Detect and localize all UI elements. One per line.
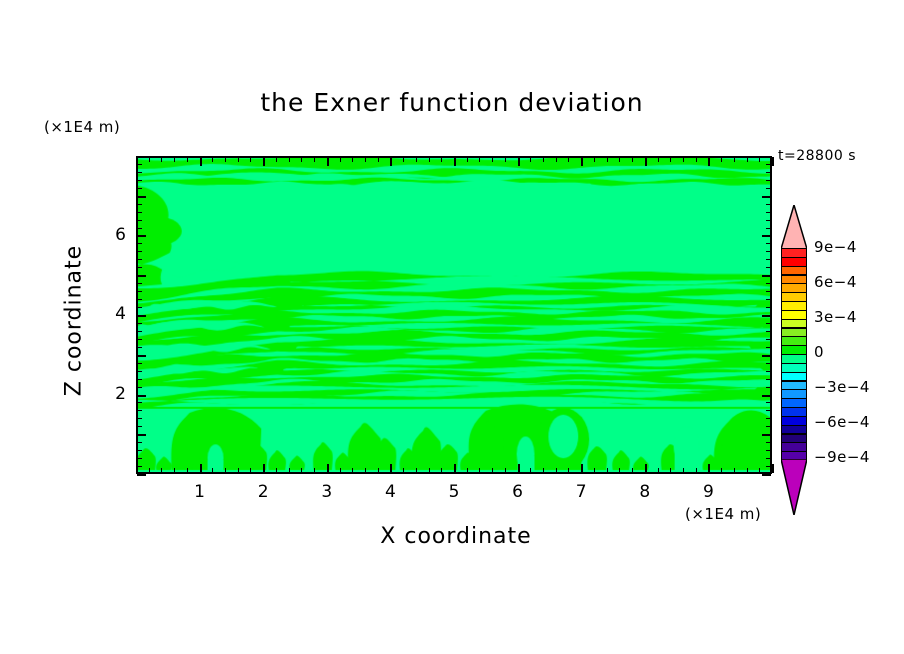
axis-tick <box>766 267 771 268</box>
axis-tick <box>137 418 142 419</box>
axis-tick <box>670 157 671 162</box>
axis-tick <box>289 468 290 473</box>
axis-tick <box>137 315 146 317</box>
axis-tick <box>314 468 315 473</box>
y-tick-label: 6 <box>96 225 126 245</box>
axis-tick <box>479 468 480 473</box>
axis-tick <box>429 468 430 473</box>
axis-tick <box>137 442 142 443</box>
axis-tick <box>747 157 748 162</box>
axis-tick <box>403 468 404 473</box>
axis-tick <box>200 464 202 473</box>
axis-tick <box>766 188 771 189</box>
axis-tick <box>670 468 671 473</box>
axis-tick <box>645 157 647 166</box>
axis-tick <box>454 157 456 166</box>
x-tick-label: 7 <box>561 482 601 502</box>
axis-tick <box>137 355 146 357</box>
axis-tick <box>187 468 188 473</box>
axis-tick <box>276 468 277 473</box>
axis-tick <box>238 157 239 162</box>
axis-tick <box>340 157 341 162</box>
axis-tick <box>766 402 771 403</box>
axis-tick <box>708 157 710 166</box>
axis-tick <box>137 235 146 237</box>
axis-tick <box>250 157 251 162</box>
axis-tick <box>149 157 150 162</box>
x-tick-label: 4 <box>370 482 410 502</box>
axis-tick <box>137 395 146 397</box>
axis-tick <box>766 228 771 229</box>
axis-tick <box>766 164 771 165</box>
axis-tick <box>734 468 735 473</box>
axis-tick <box>416 157 417 162</box>
axis-tick <box>137 299 142 300</box>
axis-tick <box>301 468 302 473</box>
x-tick-label: 6 <box>498 482 538 502</box>
axis-tick <box>137 283 142 284</box>
axis-tick <box>766 410 771 411</box>
axis-tick <box>766 307 771 308</box>
axis-tick <box>766 458 771 459</box>
axis-tick <box>581 157 583 166</box>
timestamp-annotation: t=28800 s <box>778 148 856 164</box>
axis-tick <box>137 204 142 205</box>
axis-tick <box>762 196 771 198</box>
axis-tick <box>441 468 442 473</box>
colorbar-bottom-arrow <box>781 459 807 515</box>
axis-tick <box>137 220 142 221</box>
axis-tick <box>137 450 142 451</box>
axis-tick <box>327 157 329 166</box>
x-tick-label: 3 <box>307 482 347 502</box>
axis-tick <box>454 464 456 473</box>
axis-tick <box>556 157 557 162</box>
axis-tick <box>766 172 771 173</box>
axis-tick <box>766 283 771 284</box>
axis-tick <box>137 466 142 467</box>
axis-tick <box>766 212 771 213</box>
x-tick-label: 9 <box>688 482 728 502</box>
axis-tick <box>568 468 569 473</box>
axis-tick <box>416 468 417 473</box>
axis-tick <box>137 410 142 411</box>
x-tick-label: 1 <box>180 482 220 502</box>
axis-tick <box>137 156 146 158</box>
colorbar-top-arrow <box>781 205 807 249</box>
axis-tick <box>619 157 620 162</box>
axis-tick <box>721 468 722 473</box>
axis-tick <box>225 157 226 162</box>
axis-tick <box>479 157 480 162</box>
axis-tick <box>632 157 633 162</box>
axis-tick <box>429 157 430 162</box>
axis-tick <box>543 468 544 473</box>
axis-tick <box>766 323 771 324</box>
axis-tick <box>263 464 265 473</box>
axis-tick <box>766 426 771 427</box>
axis-tick <box>352 468 353 473</box>
axis-tick <box>137 267 142 268</box>
axis-tick <box>766 204 771 205</box>
axis-tick <box>505 468 506 473</box>
axis-tick <box>137 259 142 260</box>
axis-tick <box>403 157 404 162</box>
axis-tick <box>766 243 771 244</box>
axis-tick <box>518 157 520 166</box>
axis-tick <box>137 164 142 165</box>
colorbar-tick-label: 0 <box>814 343 824 361</box>
axis-tick <box>505 157 506 162</box>
axis-tick <box>390 157 392 166</box>
axis-tick <box>137 188 142 189</box>
y-axis-title: Z coordinate <box>62 221 87 421</box>
axis-tick <box>301 157 302 162</box>
axis-tick <box>530 468 531 473</box>
axis-tick <box>161 157 162 162</box>
axis-tick <box>137 212 142 213</box>
axis-tick <box>619 468 620 473</box>
axis-tick <box>137 323 142 324</box>
x-axis-title: X coordinate <box>236 524 676 549</box>
axis-tick <box>772 464 774 473</box>
axis-tick <box>137 180 142 181</box>
axis-tick <box>594 157 595 162</box>
axis-tick <box>137 228 142 229</box>
axis-tick <box>276 157 277 162</box>
axis-tick <box>762 235 771 237</box>
axis-tick <box>137 291 142 292</box>
axis-tick <box>708 464 710 473</box>
y-tick-label: 4 <box>96 304 126 324</box>
axis-tick <box>762 315 771 317</box>
axis-tick <box>137 379 142 380</box>
axis-tick <box>200 157 202 166</box>
axis-tick <box>441 157 442 162</box>
axis-tick <box>467 468 468 473</box>
axis-tick <box>696 157 697 162</box>
axis-tick <box>762 474 771 476</box>
axis-tick <box>137 434 146 436</box>
axis-tick <box>225 468 226 473</box>
colorbar-tick-label: 3e−4 <box>814 308 857 326</box>
contour-field-canvas <box>138 158 770 472</box>
axis-tick <box>137 307 142 308</box>
axis-tick <box>645 464 647 473</box>
axis-tick <box>766 418 771 419</box>
axis-tick <box>772 157 774 166</box>
axis-tick <box>762 275 771 277</box>
axis-tick <box>137 251 142 252</box>
axis-tick <box>365 157 366 162</box>
axis-tick <box>766 387 771 388</box>
axis-tick <box>365 468 366 473</box>
axis-tick <box>137 331 142 332</box>
axis-tick <box>137 196 146 198</box>
axis-tick <box>766 371 771 372</box>
axis-tick <box>658 157 659 162</box>
axis-tick <box>161 468 162 473</box>
axis-tick <box>137 458 142 459</box>
axis-tick <box>137 371 142 372</box>
axis-tick <box>378 468 379 473</box>
axis-tick <box>137 363 142 364</box>
axis-tick <box>238 468 239 473</box>
axis-tick <box>766 259 771 260</box>
axis-tick <box>766 291 771 292</box>
axis-tick <box>696 468 697 473</box>
colorbar-tick-label: −9e−4 <box>814 448 870 466</box>
axis-tick <box>762 434 771 436</box>
axis-tick <box>762 156 771 158</box>
axis-tick <box>137 243 142 244</box>
axis-tick <box>250 468 251 473</box>
axis-tick <box>762 395 771 397</box>
y-tick-label: 2 <box>96 384 126 404</box>
axis-tick <box>766 379 771 380</box>
axis-tick <box>766 331 771 332</box>
axis-tick <box>137 339 142 340</box>
y-axis-unit-label: (×1E4 m) <box>44 118 120 136</box>
axis-tick <box>137 402 142 403</box>
axis-tick <box>212 468 213 473</box>
page-title: the Exner function deviation <box>0 88 904 117</box>
axis-tick <box>581 464 583 473</box>
axis-tick <box>174 468 175 473</box>
axis-tick <box>607 157 608 162</box>
colorbar-tick-label: 9e−4 <box>814 238 857 256</box>
axis-tick <box>766 299 771 300</box>
axis-tick <box>137 387 142 388</box>
axis-tick <box>263 157 265 166</box>
contour-plot-area <box>136 156 772 474</box>
axis-tick <box>149 468 150 473</box>
axis-tick <box>212 157 213 162</box>
axis-tick <box>137 275 146 277</box>
axis-tick <box>766 251 771 252</box>
axis-tick <box>683 468 684 473</box>
axis-tick <box>492 157 493 162</box>
colorbar-tick-label: −3e−4 <box>814 378 870 396</box>
axis-tick <box>766 466 771 467</box>
axis-tick <box>734 157 735 162</box>
axis-tick <box>594 468 595 473</box>
axis-tick <box>327 464 329 473</box>
axis-tick <box>352 157 353 162</box>
axis-tick <box>766 339 771 340</box>
axis-tick <box>340 468 341 473</box>
axis-tick <box>766 180 771 181</box>
colorbar-tick-label: 6e−4 <box>814 273 857 291</box>
axis-tick <box>518 464 520 473</box>
axis-tick <box>766 450 771 451</box>
axis-tick <box>378 157 379 162</box>
axis-tick <box>137 474 146 476</box>
x-axis-unit-label: (×1E4 m) <box>685 505 761 523</box>
axis-tick <box>632 468 633 473</box>
axis-tick <box>607 468 608 473</box>
axis-tick <box>187 157 188 162</box>
axis-tick <box>467 157 468 162</box>
axis-tick <box>766 347 771 348</box>
axis-tick <box>543 157 544 162</box>
axis-tick <box>137 172 142 173</box>
axis-tick <box>759 468 760 473</box>
axis-tick <box>658 468 659 473</box>
axis-tick <box>556 468 557 473</box>
axis-tick <box>766 220 771 221</box>
x-tick-label: 2 <box>243 482 283 502</box>
colorbar <box>781 248 807 460</box>
x-tick-label: 8 <box>625 482 665 502</box>
axis-tick <box>314 157 315 162</box>
axis-tick <box>762 355 771 357</box>
axis-tick <box>759 157 760 162</box>
axis-tick <box>766 442 771 443</box>
axis-tick <box>289 157 290 162</box>
axis-tick <box>137 426 142 427</box>
axis-tick <box>747 468 748 473</box>
axis-tick <box>174 157 175 162</box>
axis-tick <box>492 468 493 473</box>
axis-tick <box>766 363 771 364</box>
axis-tick <box>530 157 531 162</box>
axis-tick <box>568 157 569 162</box>
x-tick-label: 5 <box>434 482 474 502</box>
axis-tick <box>721 157 722 162</box>
axis-tick <box>137 347 142 348</box>
colorbar-tick-label: −6e−4 <box>814 413 870 431</box>
axis-tick <box>390 464 392 473</box>
axis-tick <box>683 157 684 162</box>
